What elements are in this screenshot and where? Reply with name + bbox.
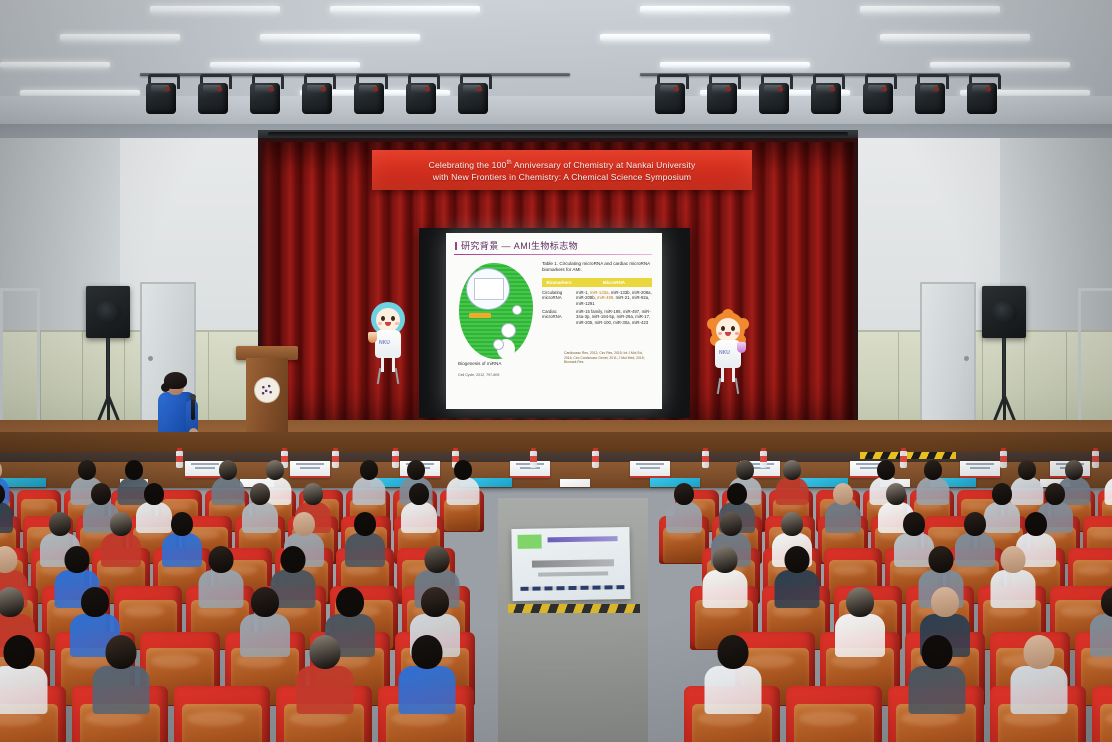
banner-text: Celebrating the 100th Anniversary of Che…: [421, 157, 704, 184]
ceiling-light-tube: [150, 6, 280, 13]
water-bottle: [760, 448, 767, 468]
audience-member: [835, 587, 885, 660]
door-left[interactable]: [140, 282, 196, 436]
stage-spotlight: [655, 74, 685, 116]
stage-spotlight: [458, 74, 488, 116]
audience-member: [240, 587, 290, 660]
hazard-tape-right: [860, 452, 956, 459]
slide-title-rule: [454, 254, 652, 255]
stage-spotlight: [302, 74, 332, 116]
aisle-poster: [511, 527, 630, 601]
water-bottle: [702, 448, 709, 468]
audience-member: [345, 512, 385, 570]
presentation-slide: 研究背景 — AMI生物标志物 Biogenesis of miRNA Cell…: [446, 233, 662, 409]
stage-spotlight: [707, 74, 737, 116]
stage-spotlight: [146, 74, 176, 116]
audience-member: [352, 460, 385, 508]
stage-spotlight: [406, 74, 436, 116]
ceiling-light-tube: [60, 34, 180, 41]
ceiling-light-tube: [330, 6, 480, 13]
pa-speaker-left: [86, 286, 130, 436]
water-bottle: [392, 448, 399, 468]
audience-member: [825, 483, 861, 536]
name-card: [290, 461, 330, 478]
ceiling-light-tube: [860, 6, 1000, 13]
water-bottle: [332, 448, 339, 468]
stage-spotlight: [915, 74, 945, 116]
slide-title: 研究背景 — AMI生物标志物: [455, 239, 650, 251]
audience-member: [0, 483, 13, 536]
audience-member: [162, 512, 202, 570]
ceiling-light-tube: [600, 34, 770, 41]
auditorium-photo: Celebrating the 100th Anniversary of Che…: [0, 0, 1112, 742]
stage-spotlight: [811, 74, 841, 116]
paper-handout: [560, 479, 590, 487]
ceiling-light-tube: [640, 6, 790, 13]
table-header-microrna: MicroRNA: [576, 280, 652, 285]
water-bottle: [1000, 448, 1007, 468]
auditorium-seat[interactable]: [1092, 686, 1112, 742]
ceiling-light-tube: [660, 62, 810, 68]
audience-member: [916, 460, 949, 508]
aisle-hazard-tape: [508, 604, 640, 613]
ceiling-light-tube: [880, 34, 1030, 41]
door-far-right[interactable]: [1078, 288, 1112, 440]
water-bottle: [530, 448, 537, 468]
audience-member: [398, 635, 455, 717]
mascot-shirt-text: NKU: [719, 350, 730, 356]
mirna-biogenesis-figure: Biogenesis of miRNA Cell Cycle, 2012, 79…: [457, 261, 535, 373]
pa-speaker-right: [982, 286, 1026, 436]
stage-spotlight: [863, 74, 893, 116]
ceiling-light-tube: [260, 34, 420, 41]
audience-member: [908, 635, 965, 717]
mirna-table: Biomarkers MicroRNA Circulating microRNA…: [542, 278, 652, 326]
podium-emblem: [255, 378, 279, 402]
water-bottle: [592, 448, 599, 468]
figure-caption: Biogenesis of miRNA: [458, 361, 501, 366]
audience-member: [401, 483, 437, 536]
auditorium-seat[interactable]: [786, 686, 882, 742]
ceiling-light-tube: [930, 62, 1070, 68]
audience-member: [198, 546, 243, 611]
audience-member: [990, 546, 1035, 611]
audience-member: [1104, 460, 1112, 508]
table-row: Circulating microRNA miR-1, miR-133a, mi…: [542, 287, 652, 306]
audience-member: [211, 460, 244, 508]
stage-spotlight: [354, 74, 384, 116]
audience-member: [1090, 587, 1112, 660]
stage-spotlight: [759, 74, 789, 116]
audience-member: [446, 460, 479, 508]
table-references: Cardiovasc Res, 2012; Circ Res, 2015; In…: [564, 351, 652, 365]
table-caption: Table 1. Circulating microRNA and cardia…: [542, 261, 650, 274]
audience-member: [775, 460, 808, 508]
nku-mascot-blue: NKU: [366, 302, 410, 386]
audience-member: [296, 635, 353, 717]
table-row: Cardiac microRNA miR-15 family, miR-195,…: [542, 306, 652, 325]
table-header-row: Biomarkers MicroRNA: [542, 278, 652, 287]
figure-reference: Cell Cycle, 2012, 797-809: [458, 373, 499, 377]
water-bottle: [176, 448, 183, 468]
audience-member: [774, 546, 819, 611]
nku-mascot-orange: NKU: [706, 312, 750, 396]
auditorium-seat[interactable]: [174, 686, 270, 742]
curtain-rail: [268, 132, 848, 137]
ceiling-light-tube: [0, 62, 110, 68]
stage-spotlight: [967, 74, 997, 116]
audience-member: [242, 483, 278, 536]
mascot-shirt-text: NKU: [379, 340, 390, 346]
audience-member: [1010, 635, 1067, 717]
name-card: [960, 461, 1000, 478]
audience-member: [92, 635, 149, 717]
audience-member: [101, 512, 141, 570]
audience-member: [704, 635, 761, 717]
stage-spotlight: [198, 74, 228, 116]
audience-member: [666, 483, 702, 536]
door-far-left[interactable]: [0, 288, 40, 440]
water-bottle: [1092, 448, 1099, 468]
door-right[interactable]: [920, 282, 976, 436]
projection-screen: 研究背景 — AMI生物标志物 Biogenesis of miRNA Cell…: [419, 228, 690, 418]
stage-spotlight: [250, 74, 280, 116]
table-header-biomarkers: Biomarkers: [542, 280, 576, 285]
ceiling-light-tube: [210, 62, 360, 68]
audience-member: [702, 546, 747, 611]
name-card: [630, 461, 670, 478]
event-banner: Celebrating the 100th Anniversary of Che…: [372, 150, 752, 190]
audience-member: [0, 635, 47, 717]
